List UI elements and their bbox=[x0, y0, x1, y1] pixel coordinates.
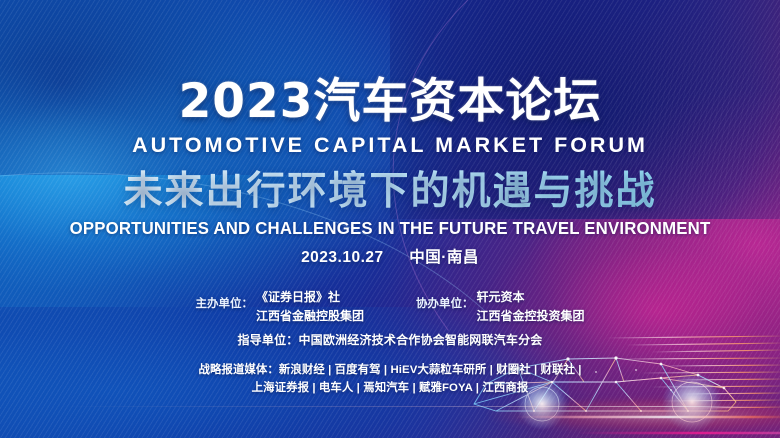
host-organizer-values: 《证券日报》社 江西省金融控股集团 bbox=[256, 288, 364, 325]
poster-title-cn: 2023汽车资本论坛 bbox=[0, 78, 780, 125]
organizers-row: 主办单位： 《证券日报》社 江西省金融控股集团 协办单位： 轩元资本 江西省金控… bbox=[0, 288, 780, 325]
poster-subtitle-cn: 未来出行环境下的机遇与挑战 bbox=[0, 170, 780, 214]
media-partners-line1: 战略报道媒体：新浪财经 | 百度有驾 | HiEV大蒜粒车研所 | 财圈社 | … bbox=[0, 361, 780, 379]
event-date: 2023.10.27 bbox=[301, 249, 384, 266]
media-partners: 战略报道媒体：新浪财经 | 百度有驾 | HiEV大蒜粒车研所 | 财圈社 | … bbox=[0, 361, 780, 398]
co-organizer-line1: 轩元资本 bbox=[477, 288, 585, 307]
media-partners-line2: 上海证券报 | 电车人 | 焉知汽车 | 赋雅FOYA | 江西商报 bbox=[0, 379, 780, 397]
host-organizer-block: 主办单位： 《证券日报》社 江西省金融控股集团 bbox=[195, 288, 364, 325]
co-organizer-label: 协办单位： bbox=[416, 288, 474, 314]
co-organizer-block: 协办单位： 轩元资本 江西省金控投资集团 bbox=[416, 288, 585, 325]
event-date-location: 2023.10.27 中国·南昌 bbox=[0, 250, 780, 266]
co-organizer-values: 轩元资本 江西省金控投资集团 bbox=[477, 288, 585, 325]
co-organizer-line2: 江西省金控投资集团 bbox=[477, 307, 585, 326]
host-organizer-label: 主办单位： bbox=[195, 288, 253, 314]
poster-subtitle-en: OPPORTUNITIES AND CHALLENGES IN THE FUTU… bbox=[14, 220, 767, 237]
event-poster: 2023汽车资本论坛 AUTOMOTIVE CAPITAL MARKET FOR… bbox=[0, 0, 780, 438]
guidance-unit-line: 指导单位：中国欧洲经济技术合作协会智能网联汽车分会 bbox=[0, 334, 780, 346]
host-organizer-line1: 《证券日报》社 bbox=[256, 288, 364, 307]
event-location: 中国·南昌 bbox=[409, 249, 479, 266]
host-organizer-line2: 江西省金融控股集团 bbox=[256, 307, 364, 326]
poster-title-en: AUTOMOTIVE CAPITAL MARKET FORUM bbox=[0, 135, 780, 157]
poster-content: 2023汽车资本论坛 AUTOMOTIVE CAPITAL MARKET FOR… bbox=[0, 0, 780, 438]
